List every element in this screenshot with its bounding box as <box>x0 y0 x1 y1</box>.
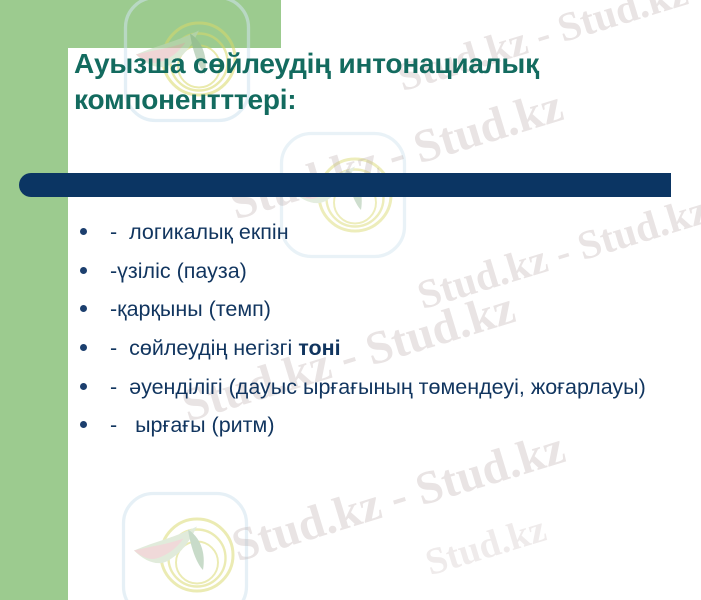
list-item-label: - әуенділігі (дауыс ырғағының төмендеуі,… <box>110 371 682 404</box>
list-item: - әуенділігі (дауыс ырғағының төмендеуі,… <box>72 371 682 404</box>
list-item: - сөйлеудің негізгі тоні <box>72 332 682 365</box>
list-item: -қарқыны (темп) <box>72 293 682 326</box>
presentation-slide: Stud.kz - Stud.kz Stud.kz - Stud.kz Stud… <box>0 0 701 600</box>
list-item-label: - логикалық екпін <box>110 216 682 249</box>
list-item-label: - сөйлеудің негізгі тоні <box>110 332 682 365</box>
bullet-dot-icon <box>80 421 87 428</box>
list-item: - ырғағы (ритм) <box>72 409 682 442</box>
green-sidebar-decoration <box>0 0 68 600</box>
list-item-label: -қарқыны (темп) <box>110 293 682 326</box>
title-underline-bar <box>19 173 671 197</box>
bullet-dot-icon <box>80 305 87 312</box>
bullet-dot-icon <box>80 228 87 235</box>
bullet-dot-icon <box>80 267 87 274</box>
list-item: -үзіліс (пауза) <box>72 255 682 288</box>
bullet-list: - логикалық екпін -үзіліс (пауза) -қарқы… <box>72 216 682 448</box>
list-item-label: -үзіліс (пауза) <box>110 255 682 288</box>
green-header-block-decoration <box>0 0 281 48</box>
bullet-dot-icon <box>80 344 87 351</box>
slide-title: Ауызша сөйлеудің интонациалық компонентт… <box>74 46 684 118</box>
list-item: - логикалық екпін <box>72 216 682 249</box>
bullet-dot-icon <box>80 383 87 390</box>
list-item-label: - ырғағы (ритм) <box>110 409 682 442</box>
